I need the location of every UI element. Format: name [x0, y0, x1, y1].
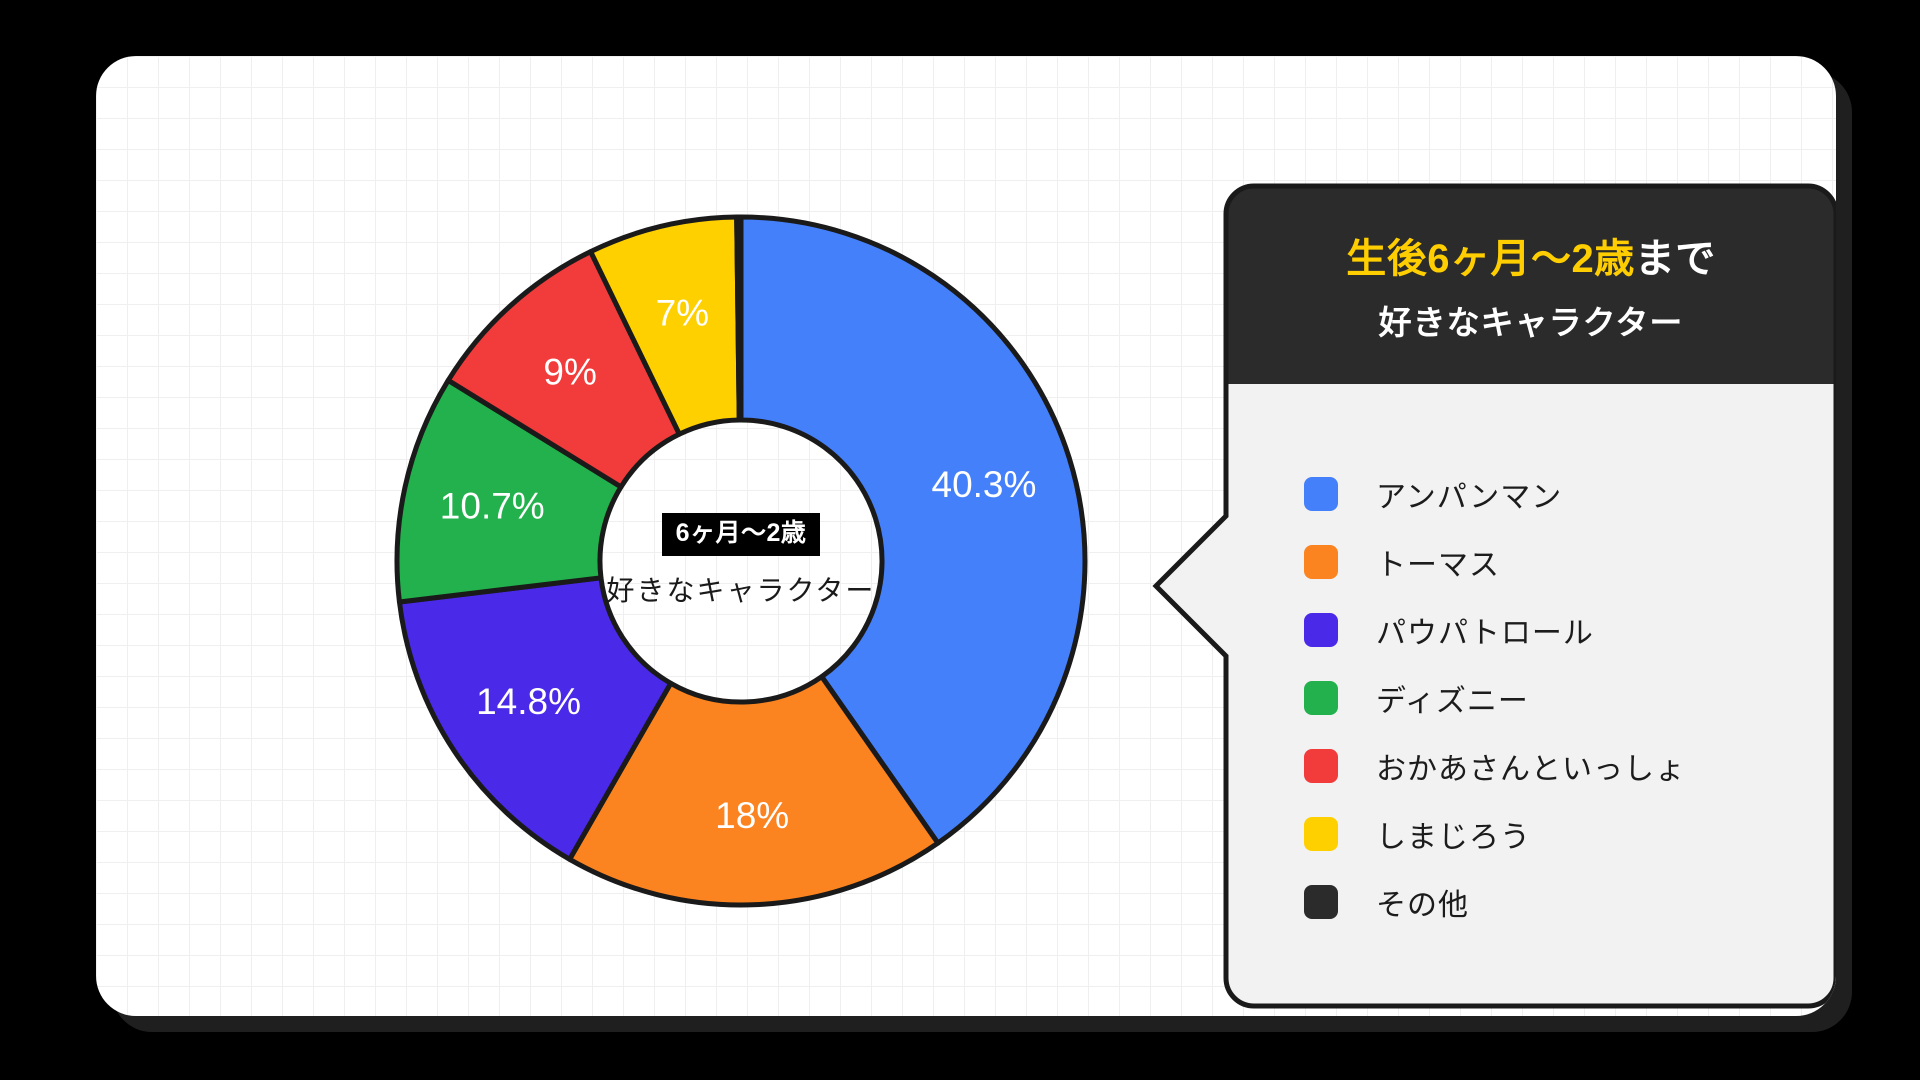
donut-graphic: 40.3%18%14.8%10.7%9%7% 6ヶ月〜2歳 好きなキャラクター	[391, 211, 1091, 911]
legend-item[interactable]: その他	[1304, 868, 1836, 936]
legend-item-label: トーマス	[1376, 540, 1500, 584]
legend-item-label: その他	[1376, 880, 1469, 924]
legend-swatch-icon	[1304, 613, 1338, 647]
donut-slice-label: 40.3%	[932, 464, 1037, 505]
legend-item-label: しまじろう	[1376, 812, 1531, 856]
legend-item[interactable]: アンパンマン	[1304, 460, 1836, 528]
legend-swatch-icon	[1304, 477, 1338, 511]
panel-title-line2: 好きなキャラクター	[1379, 296, 1684, 344]
legend-item[interactable]: トーマス	[1304, 528, 1836, 596]
legend-swatch-icon	[1304, 885, 1338, 919]
legend-panel: 生後6ヶ月〜2歳まで 好きなキャラクター アンパンマントーマスパウパトロールディ…	[1226, 186, 1836, 1006]
legend-item-label: パウパトロール	[1376, 608, 1594, 652]
legend-item-label: ディズニー	[1376, 676, 1529, 720]
legend-item[interactable]: おかあさんといっしょ	[1304, 732, 1836, 800]
legend-list: アンパンマントーマスパウパトロールディズニーおかあさんといっしょしまじろうその他	[1226, 384, 1836, 1006]
donut-chart: 40.3%18%14.8%10.7%9%7% 6ヶ月〜2歳 好きなキャラクター	[296, 176, 1096, 916]
panel-title-highlight: 生後6ヶ月〜2歳	[1346, 237, 1635, 281]
legend-swatch-icon	[1304, 681, 1338, 715]
panel-title-line1: 生後6ヶ月〜2歳まで	[1346, 226, 1716, 284]
donut-svg: 40.3%18%14.8%10.7%9%7%	[391, 211, 1091, 911]
legend-swatch-icon	[1304, 545, 1338, 579]
donut-slice-label: 14.8%	[476, 681, 581, 722]
legend-swatch-icon	[1304, 817, 1338, 851]
legend-item[interactable]: しまじろう	[1304, 800, 1836, 868]
donut-slice[interactable]	[737, 217, 741, 420]
donut-slice-label: 7%	[656, 293, 709, 334]
infographic-card: 40.3%18%14.8%10.7%9%7% 6ヶ月〜2歳 好きなキャラクター	[96, 56, 1836, 1016]
panel-title-rest: まで	[1635, 237, 1716, 281]
legend-panel-content: 生後6ヶ月〜2歳まで 好きなキャラクター アンパンマントーマスパウパトロールディ…	[1226, 186, 1836, 1006]
donut-slice-label: 18%	[715, 795, 789, 836]
legend-item-label: おかあさんといっしょ	[1376, 744, 1686, 788]
legend-swatch-icon	[1304, 749, 1338, 783]
legend-item[interactable]: ディズニー	[1304, 664, 1836, 732]
legend-item-label: アンパンマン	[1376, 472, 1562, 516]
screen-root: 40.3%18%14.8%10.7%9%7% 6ヶ月〜2歳 好きなキャラクター	[0, 0, 1920, 1080]
donut-slice-label: 9%	[543, 352, 596, 393]
donut-slice-label: 10.7%	[440, 486, 545, 527]
legend-item[interactable]: パウパトロール	[1304, 596, 1836, 664]
legend-panel-header: 生後6ヶ月〜2歳まで 好きなキャラクター	[1226, 186, 1836, 384]
